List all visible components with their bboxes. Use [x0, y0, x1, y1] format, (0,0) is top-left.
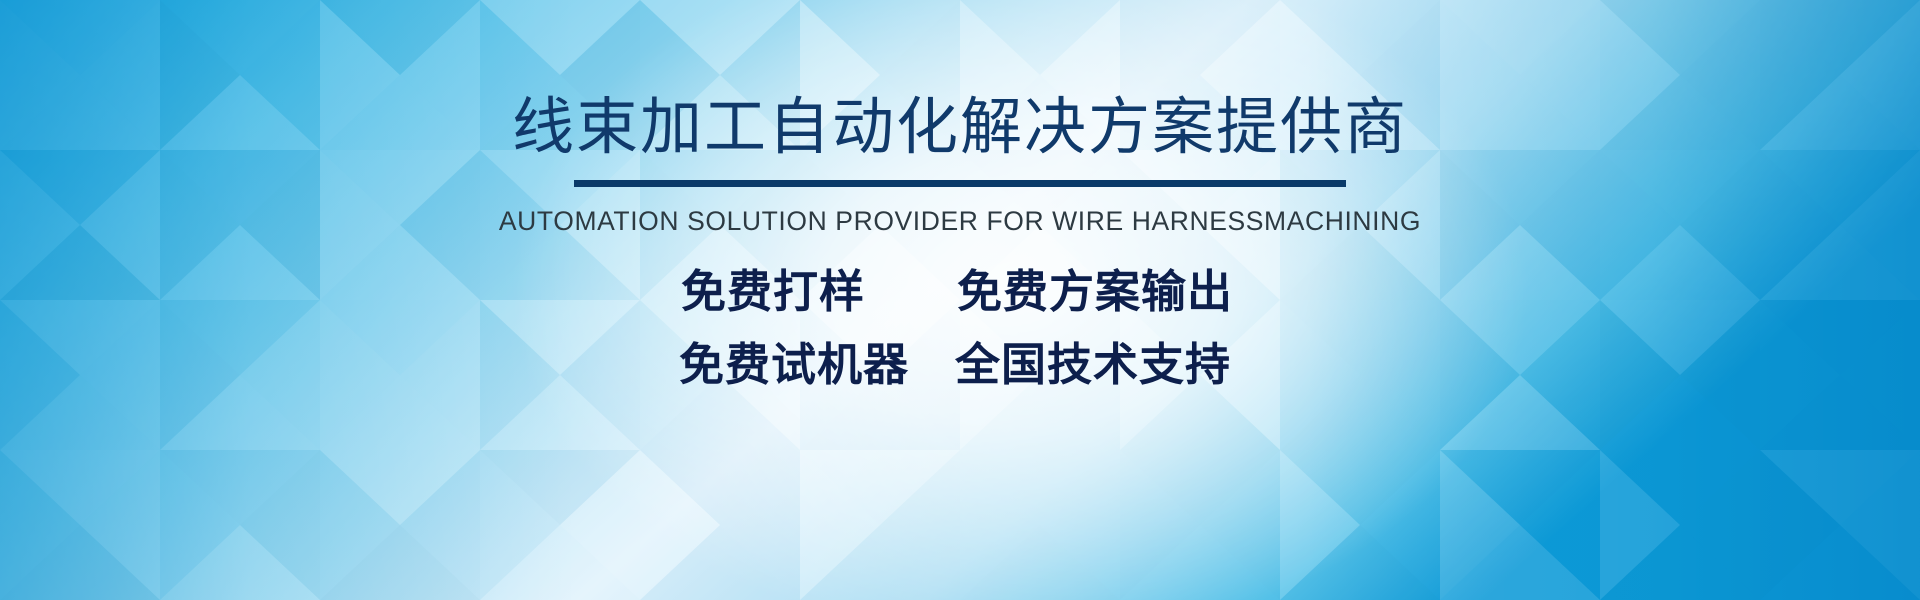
tagline-line-1: 免费打样 免费方案输出: [681, 265, 1233, 318]
banner-headline: 线束加工自动化解决方案提供商: [512, 96, 1408, 158]
banner-subline-english: AUTOMATION SOLUTION PROVIDER FOR WIRE HA…: [499, 206, 1421, 237]
banner-content: 线束加工自动化解决方案提供商 AUTOMATION SOLUTION PROVI…: [0, 0, 1920, 600]
headline-divider: [574, 180, 1346, 187]
tagline-line-2: 免费试机器 全国技术支持: [679, 338, 1231, 391]
hero-banner: 线束加工自动化解决方案提供商 AUTOMATION SOLUTION PROVI…: [0, 0, 1920, 600]
banner-taglines: 免费打样 免费方案输出 免费试机器 全国技术支持: [687, 265, 1233, 391]
